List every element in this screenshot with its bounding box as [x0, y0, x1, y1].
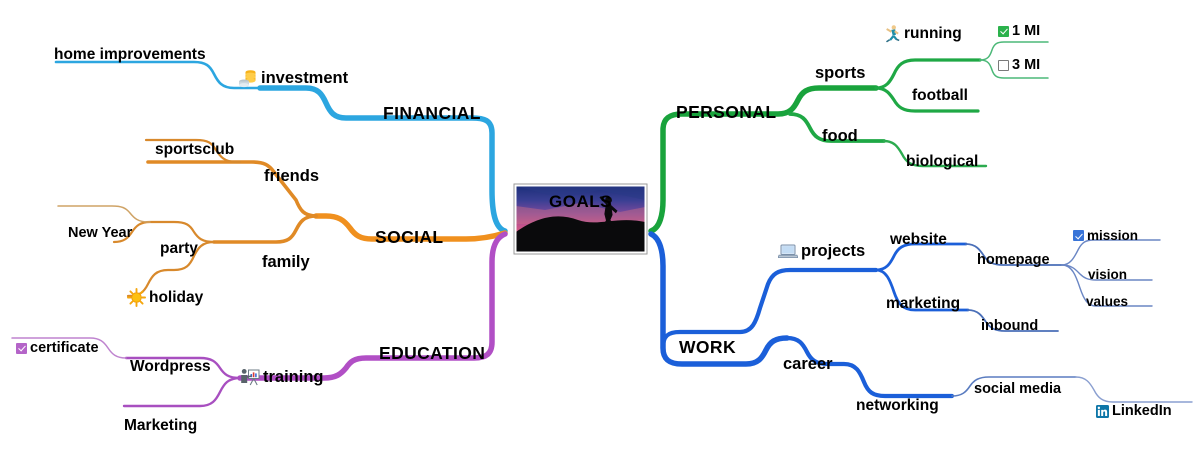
- node-family[interactable]: family: [262, 254, 310, 271]
- node-friends-label: friends: [264, 168, 319, 185]
- node-mission-label: mission: [1087, 229, 1138, 243]
- node-social[interactable]: SOCIAL: [375, 229, 444, 247]
- node-running-label: running: [904, 26, 962, 42]
- node-networking-label: networking: [856, 398, 939, 414]
- node-sports-label: sports: [815, 65, 865, 82]
- node-website-label: website: [890, 232, 947, 248]
- node-personal-label: PERSONAL: [676, 104, 776, 122]
- node-website[interactable]: website: [890, 232, 947, 248]
- node-training[interactable]: training: [240, 368, 324, 387]
- node-3-mi-label: 3 MI: [1012, 58, 1040, 73]
- node-values-label: values: [1086, 295, 1128, 309]
- node-education[interactable]: EDUCATION: [379, 345, 485, 363]
- node-vision-label: vision: [1088, 268, 1127, 282]
- linkedin-icon: [1096, 405, 1109, 418]
- node-marketing-education-label: Marketing: [124, 418, 197, 434]
- node-sports[interactable]: sports: [815, 65, 865, 82]
- laptop-icon: [778, 243, 798, 260]
- node-education-label: EDUCATION: [379, 345, 485, 363]
- checkbox-checked-icon[interactable]: [16, 343, 27, 354]
- node-holiday-label: holiday: [149, 290, 203, 306]
- node-personal[interactable]: PERSONAL: [676, 104, 776, 122]
- node-investment-label: investment: [261, 70, 348, 87]
- node-sportsclub[interactable]: sportsclub: [155, 142, 234, 158]
- node-investment[interactable]: investment: [238, 68, 348, 88]
- checkbox-checked-icon[interactable]: [998, 26, 1009, 37]
- node-home-improvements-label: home improvements: [54, 47, 206, 63]
- checkbox-unchecked-icon[interactable]: [998, 60, 1009, 71]
- node-homepage[interactable]: homepage: [977, 253, 1050, 268]
- node-biological-label: biological: [906, 154, 978, 170]
- node-social-label: SOCIAL: [375, 229, 444, 247]
- node-marketing-work-label: marketing: [886, 296, 960, 312]
- page-title: GOALS: [515, 192, 646, 212]
- node-inbound-label: inbound: [981, 319, 1038, 334]
- node-financial-label: FINANCIAL: [383, 105, 481, 123]
- mindmap-canvas: GOALS FINANCIAL investment home improvem…: [0, 0, 1200, 457]
- node-mission[interactable]: mission: [1073, 229, 1138, 243]
- node-projects[interactable]: projects: [778, 243, 865, 260]
- node-1-mi[interactable]: 1 MI: [998, 24, 1040, 39]
- node-certificate-label: certificate: [30, 341, 99, 356]
- node-wordpress-label: Wordpress: [130, 359, 211, 375]
- checkbox-checked-icon[interactable]: [1073, 230, 1084, 241]
- runner-icon: [882, 24, 901, 43]
- node-3-mi[interactable]: 3 MI: [998, 58, 1040, 73]
- node-projects-label: projects: [801, 243, 865, 260]
- node-career[interactable]: career: [783, 356, 833, 373]
- node-networking[interactable]: networking: [856, 398, 939, 414]
- node-football[interactable]: football: [912, 88, 968, 104]
- node-1-mi-label: 1 MI: [1012, 24, 1040, 39]
- sun-icon: [127, 288, 146, 307]
- node-social-media[interactable]: social media: [974, 382, 1061, 397]
- node-marketing-education[interactable]: Marketing: [124, 418, 197, 434]
- node-biological[interactable]: biological: [906, 154, 978, 170]
- node-wordpress[interactable]: Wordpress: [130, 359, 211, 375]
- node-marketing-work[interactable]: marketing: [886, 296, 960, 312]
- node-inbound[interactable]: inbound: [981, 319, 1038, 334]
- node-sportsclub-label: sportsclub: [155, 142, 234, 158]
- node-food-label: food: [822, 128, 858, 145]
- node-food[interactable]: food: [822, 128, 858, 145]
- node-vision[interactable]: vision: [1088, 268, 1127, 282]
- node-party-label: party: [160, 241, 198, 257]
- node-home-improvements[interactable]: home improvements: [54, 47, 206, 63]
- node-running[interactable]: running: [882, 24, 962, 43]
- node-homepage-label: homepage: [977, 253, 1050, 268]
- node-training-label: training: [263, 369, 324, 386]
- node-linkedin[interactable]: LinkedIn: [1096, 404, 1172, 419]
- coins-icon: [238, 68, 258, 88]
- node-new-year[interactable]: New Year: [68, 226, 132, 241]
- presentation-icon: [240, 368, 260, 387]
- node-friends[interactable]: friends: [264, 168, 319, 185]
- node-certificate[interactable]: certificate: [16, 341, 99, 356]
- node-family-label: family: [262, 254, 310, 271]
- node-linkedin-label: LinkedIn: [1112, 404, 1172, 419]
- node-party[interactable]: party: [160, 241, 198, 257]
- central-topic-goals[interactable]: GOALS: [515, 185, 646, 212]
- node-work-label: WORK: [679, 339, 736, 357]
- node-new-year-label: New Year: [68, 226, 132, 241]
- node-career-label: career: [783, 356, 833, 373]
- node-work[interactable]: WORK: [679, 339, 736, 357]
- node-holiday[interactable]: holiday: [127, 288, 203, 307]
- node-football-label: football: [912, 88, 968, 104]
- node-financial[interactable]: FINANCIAL: [383, 105, 481, 123]
- node-social-media-label: social media: [974, 382, 1061, 397]
- node-values[interactable]: values: [1086, 295, 1128, 309]
